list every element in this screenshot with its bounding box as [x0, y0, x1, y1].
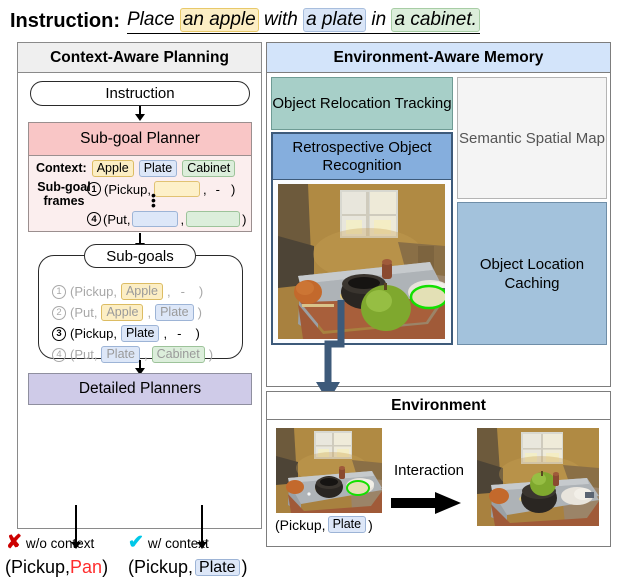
w-output-suffix: ): [242, 557, 248, 578]
instruction-node: Instruction: [30, 81, 250, 106]
sub-goal-frame-1: 1 (Pickup, , - ): [87, 181, 235, 197]
frame-1-prefix: (Pickup,: [104, 182, 151, 197]
wo-output-suffix: ): [102, 557, 108, 578]
frame-1-dash: -: [216, 182, 220, 197]
frame-1-slot-apple: [154, 181, 200, 197]
environment-caption: (Pickup, Plate ): [275, 516, 373, 533]
frame-4-index: 4: [87, 212, 101, 226]
environment-after-image: [477, 428, 599, 526]
detailed-planners-box: Detailed Planners: [28, 373, 252, 405]
environment-caption-prefix: (Pickup,: [275, 517, 326, 533]
sub-goal-1-arg1: Apple: [121, 283, 163, 300]
planner-outputs: ✘ w/o context ✔ w/ context (Pickup, Pan …: [0, 532, 290, 588]
frame-4-close: ): [242, 212, 246, 227]
cross-icon: ✘: [6, 535, 22, 551]
check-icon: ✔: [128, 535, 144, 551]
sub-goal-2-arg1: Apple: [101, 304, 143, 321]
w-context-output: (Pickup, Plate ): [128, 557, 248, 578]
wo-context-row: ✘ w/o context: [6, 535, 94, 551]
w-output-value: Plate: [195, 559, 239, 576]
environment-caption-value: Plate: [328, 516, 367, 533]
frame-4-prefix: (Put,: [103, 212, 130, 227]
instruction-highlight-plate: a plate: [303, 8, 366, 32]
sub-goal-4-arg1: Plate: [101, 346, 140, 363]
environment-before-image: [276, 428, 382, 513]
w-context-label: w/ context: [148, 536, 209, 551]
environment-panel: Environment: [266, 391, 611, 547]
sub-goal-4-prefix: (Put,: [70, 347, 97, 362]
sub-goal-2-prefix: (Put,: [70, 305, 97, 320]
semantic-spatial-map-box[interactable]: Semantic Spatial Map: [457, 77, 607, 199]
frame-1-close: ): [231, 182, 235, 197]
sub-goal-3-arg2: -: [177, 326, 181, 341]
sub-goal-3-suffix: ): [195, 326, 199, 341]
context-aware-planning-title: Context-Aware Planning: [18, 43, 261, 73]
sub-goal-3-index: 3: [52, 327, 66, 341]
context-row: Context: Apple Plate Cabinet: [36, 159, 248, 177]
object-location-caching-box[interactable]: Object Location Caching: [457, 202, 607, 345]
sub-goal-row-2[interactable]: 2 (Put, Apple , Plate ): [52, 304, 202, 321]
context-chip-plate: Plate: [139, 160, 178, 177]
w-context-row: ✔ w/ context: [128, 535, 209, 551]
sub-goal-2-arg2: Plate: [155, 304, 194, 321]
frame-1-index: 1: [87, 182, 101, 196]
wo-context-label: w/o context: [26, 536, 94, 551]
instruction-sentence: Place an apple with a plate in a cabinet…: [127, 8, 480, 34]
frame-4-sep: ,: [180, 212, 184, 227]
environment-title: Environment: [267, 392, 610, 420]
instruction-text-2: with: [259, 9, 303, 31]
wo-context-output: (Pickup, Pan ): [5, 557, 108, 578]
arrow-instruction-to-planner-head: [135, 114, 145, 121]
sub-goal-1-index: 1: [52, 285, 66, 299]
frame-1-sep: ,: [203, 182, 207, 197]
instruction-highlight-cabinet: a cabinet.: [391, 8, 479, 32]
environment-aware-memory-title: Environment-Aware Memory: [267, 43, 610, 73]
interaction-arrow-icon: [391, 492, 463, 514]
context-chip-cabinet: Cabinet: [182, 160, 235, 177]
sub-goal-row-3[interactable]: 3 (Pickup, Plate , - ): [52, 325, 200, 342]
sub-goal-1-comma: ,: [167, 284, 171, 299]
sub-goal-4-index: 4: [52, 348, 66, 362]
retrospective-object-recognition-title: Retrospective Object Recognition: [273, 134, 451, 180]
context-chip-apple: Apple: [92, 160, 134, 177]
sub-goal-3-arg1: Plate: [121, 325, 160, 342]
context-aware-planning-panel: Context-Aware Planning Instruction Sub-g…: [17, 42, 262, 529]
sub-goal-row-1[interactable]: 1 (Pickup, Apple , - ): [52, 283, 203, 300]
sub-goal-planner-box: Sub-goal Planner Context: Apple Plate Ca…: [28, 122, 252, 232]
sub-goal-3-comma: ,: [163, 326, 167, 341]
interaction-label: Interaction: [387, 462, 471, 479]
instruction-highlight-apple: an apple: [180, 8, 259, 32]
sub-goal-frames-label: Sub-goalframes: [35, 180, 93, 208]
sub-goal-planner-title: Sub-goal Planner: [29, 123, 251, 156]
sub-goal-frames-ellipsis: •••: [151, 193, 156, 208]
sub-goal-frame-4: 4 (Put, , ): [87, 211, 246, 227]
environment-caption-suffix: ): [368, 517, 373, 533]
sub-goal-4-suffix: ): [209, 347, 213, 362]
context-label: Context:: [36, 161, 87, 175]
sub-goal-1-prefix: (Pickup,: [70, 284, 117, 299]
sub-goal-2-comma: ,: [147, 305, 151, 320]
instruction-label: Instruction:: [10, 10, 120, 33]
frame-4-slot-cabinet: [186, 211, 240, 227]
sub-goal-row-4[interactable]: 4 (Put, Plate , Cabinet ): [52, 346, 213, 363]
object-relocation-tracking-box[interactable]: Object Relocation Tracking: [271, 77, 453, 130]
sub-goal-1-arg2: -: [181, 284, 185, 299]
sub-goal-1-suffix: ): [199, 284, 203, 299]
sub-goals-node: Sub-goals: [84, 244, 196, 268]
sub-goal-4-comma: ,: [144, 347, 148, 362]
instruction-text-0: Place: [127, 9, 180, 31]
instruction-bar: Instruction: Place an apple with a plate…: [10, 4, 610, 38]
instruction-text-4: in: [366, 9, 391, 31]
wo-output-prefix: (Pickup,: [5, 557, 70, 578]
sub-goal-4-arg2: Cabinet: [152, 346, 205, 363]
frame-4-slot-plate: [132, 211, 178, 227]
wo-output-value: Pan: [70, 557, 102, 578]
sub-goals-list-box: 1 (Pickup, Apple , - ) 2 (Put, Apple , P…: [38, 255, 243, 359]
sub-goal-2-suffix: ): [198, 305, 202, 320]
w-output-prefix: (Pickup,: [128, 557, 193, 578]
sub-goal-3-prefix: (Pickup,: [70, 326, 117, 341]
sub-goal-2-index: 2: [52, 306, 66, 320]
